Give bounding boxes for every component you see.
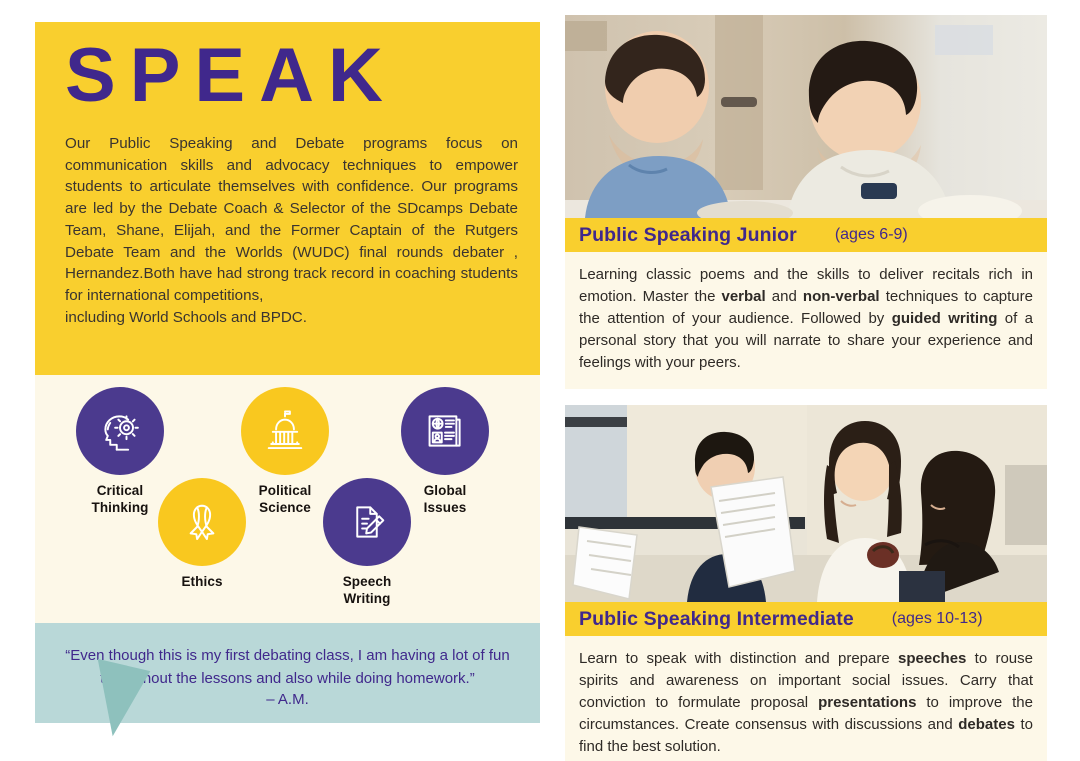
topic-label-line1: Political	[259, 483, 312, 498]
topic-label-line2: Writing	[344, 591, 391, 606]
program-description-rich: Learn to speak with distinction and prep…	[579, 650, 1033, 755]
program-band-junior: Public Speaking Junior (ages 6-9)	[565, 218, 1047, 252]
two-boys-writing-at-desk-photo	[565, 15, 1047, 218]
topic-label: Ethics	[147, 573, 257, 590]
head-gear-icon	[94, 405, 146, 457]
left-column: SPEAK Our Public Speaking and Debate pro…	[35, 22, 540, 739]
program-title: Public Speaking Intermediate	[579, 608, 854, 631]
hero-paragraph: Our Public Speaking and Debate programs …	[51, 133, 524, 329]
program-photo-junior	[565, 15, 1047, 218]
topic-circle	[76, 387, 164, 475]
program-card-intermediate: Public Speaking Intermediate (ages 10-13…	[565, 405, 1047, 761]
document-pencil-icon	[341, 496, 393, 548]
topic-label-line2: Thinking	[91, 500, 148, 515]
hero-paragraph-last-line: including World Schools and BPDC.	[65, 307, 518, 329]
topic-speech-writing[interactable]: Speech Writing	[312, 478, 422, 608]
topic-circle	[158, 478, 246, 566]
three-students-reading-papers-photo	[565, 405, 1047, 602]
topic-label-line1: Speech	[343, 574, 392, 589]
program-description-rich: Learning classic poems and the skills to…	[579, 266, 1033, 371]
program-description-junior: Learning classic poems and the skills to…	[565, 252, 1047, 389]
right-column: Public Speaking Junior (ages 6-9) Learni…	[565, 15, 1047, 761]
topic-circle	[401, 387, 489, 475]
topic-ethics[interactable]: Ethics	[147, 478, 257, 590]
topic-label-line2: Science	[259, 500, 311, 515]
hero-panel: SPEAK Our Public Speaking and Debate pro…	[35, 22, 540, 375]
program-card-junior: Public Speaking Junior (ages 6-9) Learni…	[565, 15, 1047, 389]
testimonial-quote: “Even though this is my first debating c…	[35, 623, 540, 723]
program-description-intermediate: Learn to speak with distinction and prep…	[565, 636, 1047, 761]
program-ages: (ages 6-9)	[835, 226, 908, 244]
flyer-page: SPEAK Our Public Speaking and Debate pro…	[0, 0, 1080, 761]
topic-circle	[323, 478, 411, 566]
ribbon-icon	[176, 496, 228, 548]
page-title: SPEAK	[51, 36, 524, 113]
topic-label-line1: Critical	[97, 483, 144, 498]
hero-paragraph-text: Our Public Speaking and Debate programs …	[65, 135, 518, 304]
newspaper-globe-icon	[419, 405, 471, 457]
topic-label-line1: Global	[424, 483, 467, 498]
topic-label: Speech Writing	[312, 573, 422, 608]
topic-label-line1: Ethics	[181, 574, 222, 589]
program-photo-intermediate	[565, 405, 1047, 602]
topic-label-line2: Issues	[424, 500, 467, 515]
program-ages: (ages 10-13)	[892, 610, 983, 628]
topic-circle	[241, 387, 329, 475]
topics-panel: Critical Thinking	[35, 375, 540, 623]
capitol-building-icon	[259, 405, 311, 457]
quote-line-1: “Even though this is my first debating c…	[65, 645, 510, 668]
program-title: Public Speaking Junior	[579, 224, 797, 247]
program-band-intermediate: Public Speaking Intermediate (ages 10-13…	[565, 602, 1047, 636]
